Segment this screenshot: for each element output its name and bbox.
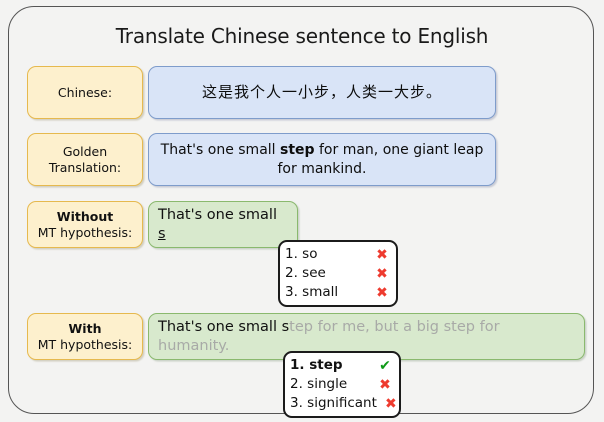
suggestion-label: 1. step — [290, 356, 349, 375]
label-chip-with-line1: With — [69, 321, 102, 337]
label-chip-golden-line1: Golden — [63, 144, 107, 160]
source-sentence-text: 这是我个人一小步，人类一大步。 — [202, 83, 442, 103]
with-typed-prefix: That's one small — [158, 319, 282, 335]
suggestion-item[interactable]: 1. so ✖ — [285, 245, 390, 264]
with-hypothesis-text: That's one small step for me, but a big … — [158, 318, 575, 356]
suggestion-item[interactable]: 1. step ✔ — [290, 356, 393, 375]
cross-icon: ✖ — [377, 378, 393, 392]
golden-translation-text: That's one small step for man, one giant… — [157, 141, 487, 177]
label-chip-golden-translation: Golden Translation: — [27, 133, 143, 186]
label-chip-without-line1: Without — [57, 209, 113, 225]
suggestion-label: 2. see — [285, 264, 332, 283]
without-typed-text: That's one small s — [158, 206, 288, 244]
golden-text-highlight: step — [280, 142, 315, 158]
source-sentence-box: 这是我个人一小步，人类一大步。 — [148, 66, 496, 119]
label-chip-chinese: Chinese: — [27, 66, 143, 119]
label-chip-golden-line2: Translation: — [49, 160, 121, 176]
suggestion-item[interactable]: 3. small ✖ — [285, 283, 390, 302]
suggestion-label: 3. significant — [290, 394, 383, 413]
golden-text-before: That's one small — [161, 142, 280, 158]
suggestion-label: 2. single — [290, 375, 353, 394]
suggestion-item[interactable]: 2. single ✖ — [290, 375, 393, 394]
label-chip-with-line2: MT hypothesis: — [38, 337, 133, 353]
without-mt-hypothesis-box[interactable]: That's one small s — [148, 201, 298, 248]
page-title: Translate Chinese sentence to English — [0, 24, 604, 48]
suggestion-item[interactable]: 2. see ✖ — [285, 264, 390, 283]
label-chip-without-mt: Without MT hypothesis: — [27, 201, 143, 248]
without-typed-prefix: That's one small — [158, 207, 277, 223]
with-suggestions-popup[interactable]: 1. step ✔ 2. single ✖ 3. significant ✖ — [283, 351, 401, 418]
label-chip-with-mt: With MT hypothesis: — [27, 313, 143, 360]
suggestion-label: 1. so — [285, 245, 323, 264]
check-icon: ✔ — [377, 359, 393, 373]
without-typed-caret: s — [158, 226, 166, 242]
suggestion-item[interactable]: 3. significant ✖ — [290, 394, 393, 413]
cross-icon: ✖ — [374, 267, 390, 281]
label-chip-without-line2: MT hypothesis: — [38, 225, 133, 241]
golden-translation-box: That's one small step for man, one giant… — [148, 133, 496, 186]
label-chip-chinese-line1: Chinese: — [58, 85, 112, 101]
suggestion-label: 3. small — [285, 283, 344, 302]
screenshot-root: Translate Chinese sentence to English Ch… — [0, 0, 604, 422]
without-suggestions-popup[interactable]: 1. so ✖ 2. see ✖ 3. small ✖ — [278, 240, 398, 307]
cross-icon: ✖ — [383, 397, 399, 411]
cross-icon: ✖ — [374, 286, 390, 300]
cross-icon: ✖ — [374, 248, 390, 262]
